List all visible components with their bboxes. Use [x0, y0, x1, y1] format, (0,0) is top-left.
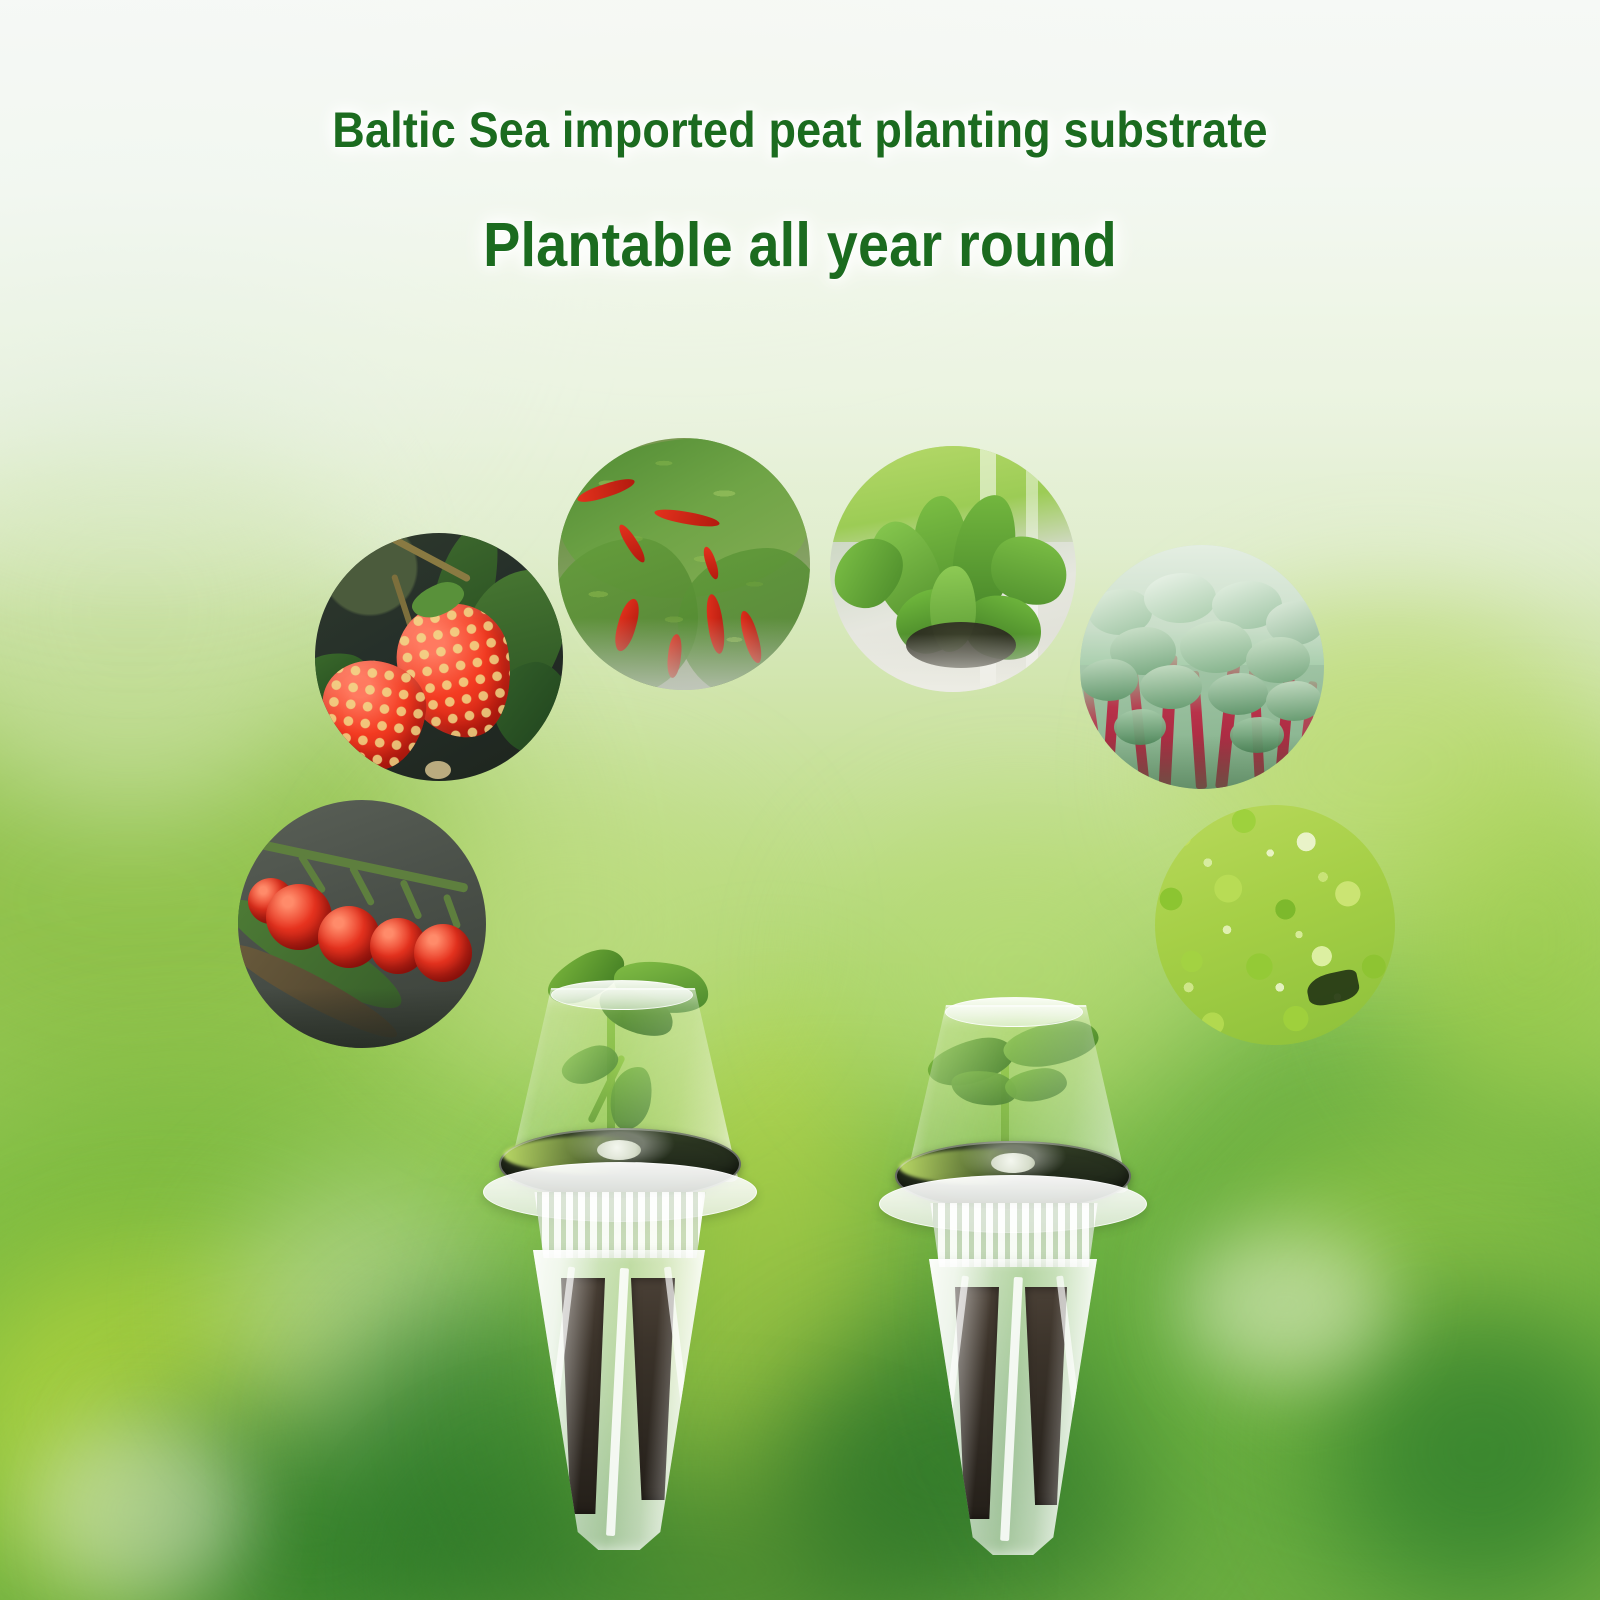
- crop-circle-strawberry[interactable]: [315, 533, 563, 781]
- pod-cone-right: [929, 1259, 1097, 1555]
- crop-circle-chili[interactable]: [558, 438, 810, 690]
- seed-pod-right[interactable]: [855, 965, 1165, 1580]
- seed-pod-left[interactable]: [455, 940, 775, 1580]
- pod-collar-right: [925, 1203, 1103, 1267]
- pod-dome-top-right: [945, 997, 1083, 1027]
- chili-photo: [558, 438, 810, 690]
- bokchoy-photo: [830, 446, 1076, 692]
- promo-banner: Baltic Sea imported peat planting substr…: [0, 0, 1600, 1600]
- crop-circle-cherry-tomato[interactable]: [238, 800, 486, 1048]
- curly-lettuce-photo: [1155, 805, 1395, 1045]
- pod-collar-left: [529, 1192, 711, 1258]
- radish-microgreens-photo: [1080, 545, 1324, 789]
- crop-circle-curly-lettuce[interactable]: [1155, 805, 1395, 1045]
- cherry-tomato-photo: [238, 800, 486, 1048]
- strawberry-photo: [315, 533, 563, 781]
- headline-primary: Baltic Sea imported peat planting substr…: [80, 104, 1520, 157]
- headline-secondary: Plantable all year round: [80, 213, 1520, 279]
- crop-circle-radish-microgreens[interactable]: [1080, 545, 1324, 789]
- crop-circle-bokchoy[interactable]: [830, 446, 1076, 692]
- pod-dome-top-left: [551, 980, 693, 1010]
- pod-cone-left: [533, 1250, 705, 1550]
- headline-block: Baltic Sea imported peat planting substr…: [0, 104, 1600, 279]
